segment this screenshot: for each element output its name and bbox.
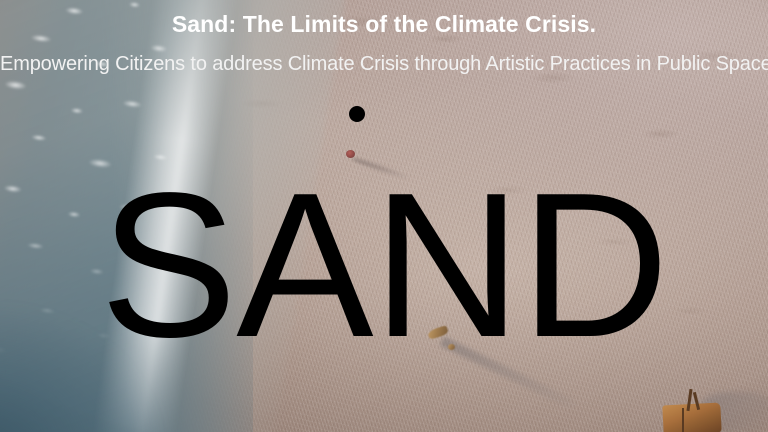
sand-wordmark: SAND: [0, 162, 768, 368]
black-marker-dot: [349, 106, 365, 122]
slide-title: Sand: The Limits of the Climate Crisis.: [0, 12, 768, 38]
presentation-slide: Sand: The Limits of the Climate Crisis. …: [0, 0, 768, 432]
slide-subtitle: Empowering Citizens to address Climate C…: [0, 53, 768, 76]
